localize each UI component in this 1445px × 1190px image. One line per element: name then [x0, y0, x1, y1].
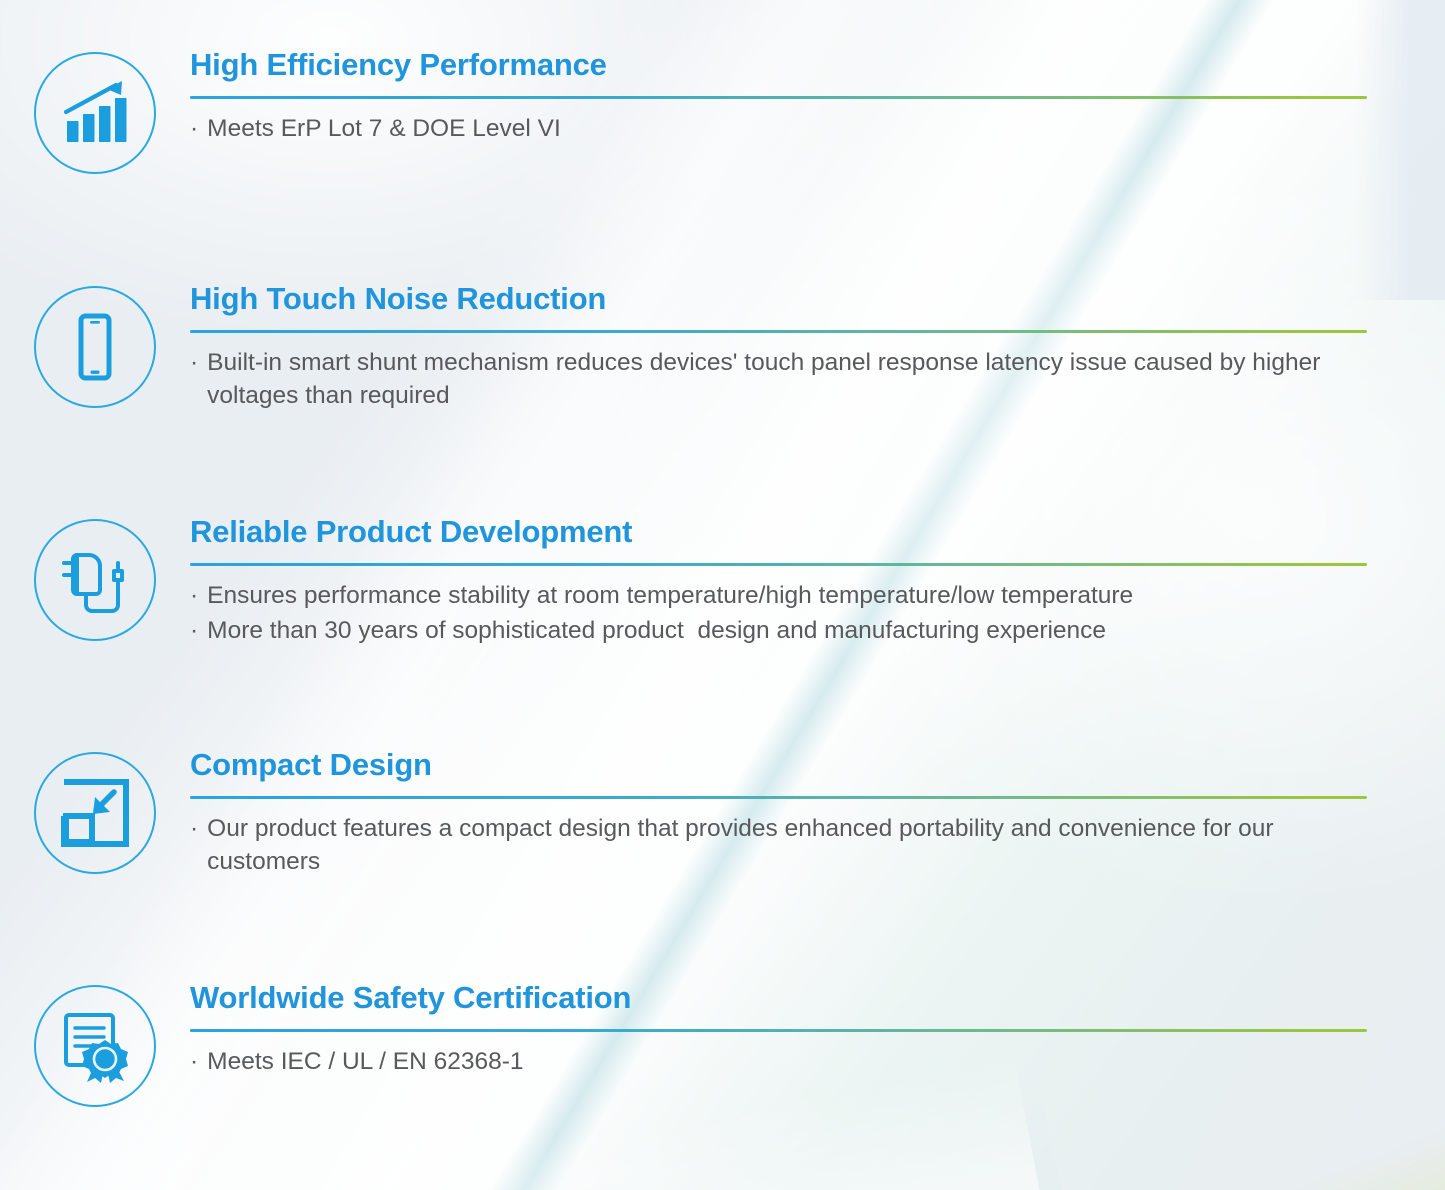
- bullet-dot-icon: ·: [190, 112, 198, 146]
- feature-item-reliable-product-development: Reliable Product Development · Ensures p…: [0, 515, 1445, 648]
- bar-chart-growth-icon: [34, 52, 156, 174]
- feature-bullet-text: Our product features a compact design th…: [207, 812, 1367, 879]
- feature-item-high-touch-noise-reduction: High Touch Noise Reduction · Built-in sm…: [0, 282, 1445, 413]
- feature-title: High Efficiency Performance: [190, 48, 1367, 83]
- feature-bullets: · Ensures performance stability at room …: [190, 579, 1367, 648]
- feature-bullets: · Our product features a compact design …: [190, 812, 1367, 879]
- feature-bullet-line: · Meets IEC / UL / EN 62368-1: [190, 1045, 1367, 1079]
- feature-bullet-text: More than 30 years of sophisticated prod…: [207, 614, 1367, 648]
- feature-body: High Touch Noise Reduction · Built-in sm…: [190, 282, 1445, 413]
- feature-icon-wrap: [0, 515, 190, 641]
- bullet-dot-icon: ·: [190, 614, 198, 648]
- feature-bullets: · Built-in smart shunt mechanism reduces…: [190, 346, 1367, 413]
- bullet-dot-icon: ·: [190, 579, 198, 613]
- feature-title: Reliable Product Development: [190, 515, 1367, 550]
- feature-divider: [190, 796, 1367, 799]
- certificate-award-icon: [34, 985, 156, 1107]
- bullet-dot-icon: ·: [190, 812, 198, 846]
- feature-title: Worldwide Safety Certification: [190, 981, 1367, 1016]
- power-adapter-icon: [34, 519, 156, 641]
- feature-bullet-line: · Ensures performance stability at room …: [190, 579, 1367, 613]
- feature-body: Reliable Product Development · Ensures p…: [190, 515, 1445, 648]
- feature-item-high-efficiency-performance: High Efficiency Performance · Meets ErP …: [0, 48, 1445, 174]
- feature-item-compact-design: Compact Design · Our product features a …: [0, 748, 1445, 879]
- feature-bullet-line: · Meets ErP Lot 7 & DOE Level VI: [190, 112, 1367, 146]
- feature-item-worldwide-safety-certification: Worldwide Safety Certification · Meets I…: [0, 981, 1445, 1107]
- feature-bullets: · Meets ErP Lot 7 & DOE Level VI: [190, 112, 1367, 146]
- bullet-dot-icon: ·: [190, 1045, 198, 1079]
- feature-icon-wrap: [0, 282, 190, 408]
- feature-icon-wrap: [0, 748, 190, 874]
- feature-bullet-text: Meets IEC / UL / EN 62368-1: [207, 1045, 1367, 1079]
- feature-bullet-line: · Built-in smart shunt mechanism reduces…: [190, 346, 1367, 413]
- compact-resize-icon: [34, 752, 156, 874]
- feature-divider: [190, 330, 1367, 333]
- feature-body: Worldwide Safety Certification · Meets I…: [190, 981, 1445, 1078]
- feature-icon-wrap: [0, 981, 190, 1107]
- feature-divider: [190, 1029, 1367, 1032]
- feature-bullet-text: Ensures performance stability at room te…: [207, 579, 1367, 613]
- feature-icon-wrap: [0, 48, 190, 174]
- bullet-dot-icon: ·: [190, 346, 198, 380]
- feature-title: High Touch Noise Reduction: [190, 282, 1367, 317]
- feature-body: High Efficiency Performance · Meets ErP …: [190, 48, 1445, 145]
- feature-body: Compact Design · Our product features a …: [190, 748, 1445, 879]
- feature-bullet-text: Built-in smart shunt mechanism reduces d…: [207, 346, 1367, 413]
- feature-bullet-line: · Our product features a compact design …: [190, 812, 1367, 879]
- feature-divider: [190, 563, 1367, 566]
- feature-list: High Efficiency Performance · Meets ErP …: [0, 0, 1445, 1190]
- feature-bullet-line: · More than 30 years of sophisticated pr…: [190, 614, 1367, 648]
- feature-bullets: · Meets IEC / UL / EN 62368-1: [190, 1045, 1367, 1079]
- smartphone-icon: [34, 286, 156, 408]
- feature-divider: [190, 96, 1367, 99]
- feature-title: Compact Design: [190, 748, 1367, 783]
- feature-bullet-text: Meets ErP Lot 7 & DOE Level VI: [207, 112, 1367, 146]
